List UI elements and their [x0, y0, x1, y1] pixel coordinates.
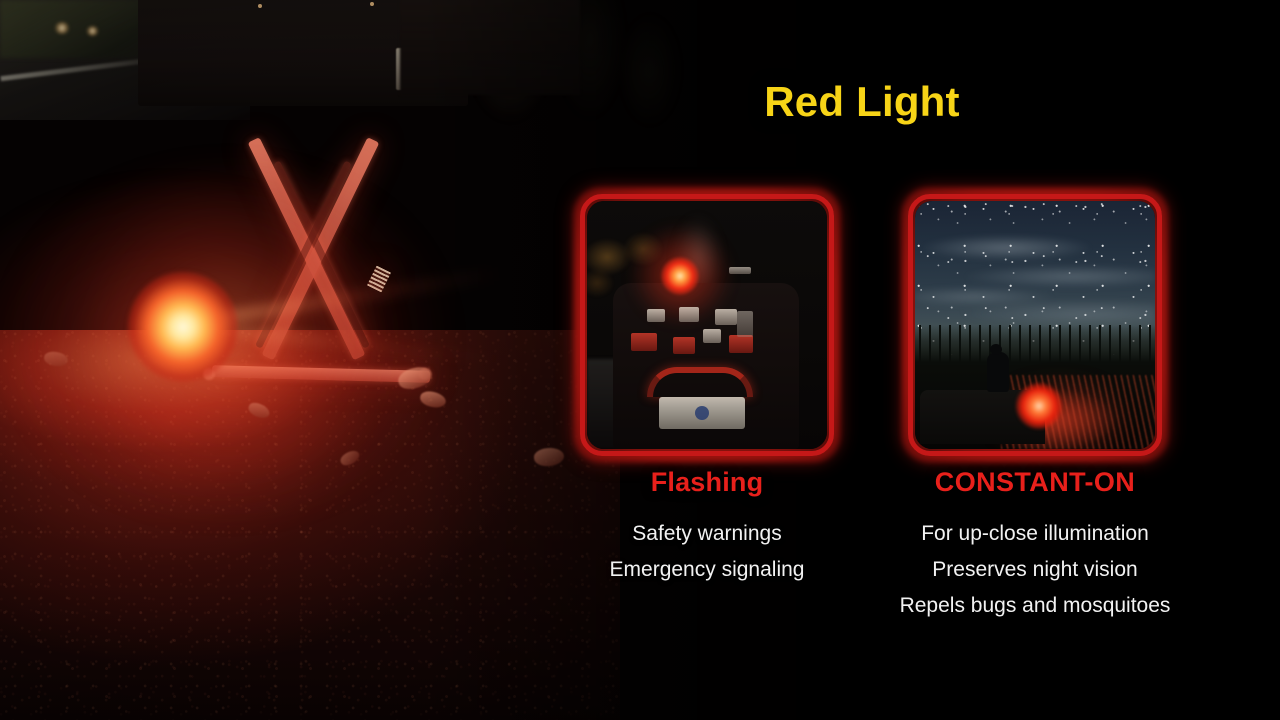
mode-thumbnails	[556, 178, 1216, 458]
benefit-line: For up-close illumination	[870, 516, 1200, 552]
thumb-a-rear-guard	[647, 367, 753, 397]
mode-title-constant-on: CONSTANT-ON	[870, 468, 1200, 498]
thumb-a-license-plate	[659, 397, 745, 429]
thumb-a-decal-1	[631, 333, 657, 351]
thumbnail-night-camper	[915, 201, 1155, 449]
thumb-a-decal-2	[673, 337, 695, 354]
thumb-a-decal-4	[729, 335, 753, 353]
thumb-a-decal-7	[647, 309, 665, 322]
mode-benefits-flashing: Safety warnings Emergency signaling	[542, 516, 872, 588]
benefit-line: Repels bugs and mosquitoes	[870, 588, 1200, 624]
thumb-a-decal-6	[679, 307, 699, 322]
mode-benefits-constant-on: For up-close illumination Preserves nigh…	[870, 516, 1200, 624]
info-panel: Red Light	[556, 0, 1280, 720]
mode-title-flashing: Flashing	[542, 468, 872, 498]
thumb-a-decal-3	[703, 329, 721, 343]
mode-card-flashing[interactable]	[574, 188, 840, 462]
benefit-line: Preserves night vision	[870, 552, 1200, 588]
thumbnail-emergency-vehicle	[587, 201, 827, 449]
mode-card-constant-on[interactable]	[902, 188, 1168, 462]
product-feature-banner: Red Light	[0, 0, 1280, 720]
thumb-b-person-silhouette	[987, 352, 1009, 392]
thumb-a-decal-5	[715, 309, 737, 325]
benefit-line: Safety warnings	[542, 516, 872, 552]
thumb-a-decal-8	[737, 311, 753, 337]
thumb-a-plate-emblem	[695, 406, 709, 420]
thumb-b-red-light-source	[1016, 383, 1062, 429]
thumb-a-roof-light	[729, 267, 751, 274]
benefit-line: Emergency signaling	[542, 552, 872, 588]
caption-column-constant-on: CONSTANT-ON For up-close illumination Pr…	[870, 468, 1200, 624]
page-title: Red Light	[556, 78, 1168, 126]
caption-column-flashing: Flashing Safety warnings Emergency signa…	[542, 468, 872, 588]
thumb-a-red-beacon	[661, 257, 699, 295]
